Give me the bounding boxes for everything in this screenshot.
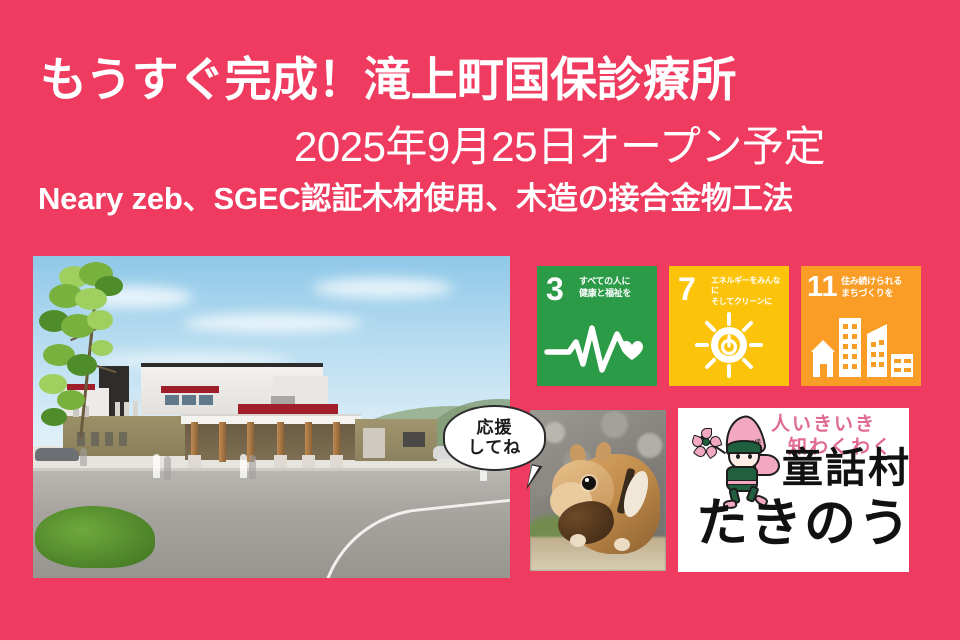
- heartbeat-icon: [537, 312, 657, 382]
- person-figure: [164, 456, 171, 480]
- chipmunk-eye: [582, 476, 596, 490]
- side-entrance-door: [363, 428, 385, 458]
- sun-power-icon: [669, 312, 789, 382]
- person-figure: [249, 455, 256, 479]
- city-buildings-icon: [801, 312, 921, 382]
- sdg-goal-3[interactable]: 3 すべての人に 健康と福祉を: [537, 266, 657, 386]
- person-figure: [153, 454, 160, 478]
- sdg-number: 11: [807, 273, 838, 302]
- window: [403, 432, 425, 447]
- sdg-goal-7[interactable]: 7 エネルギーをみんなに そしてクリーンに: [669, 266, 789, 386]
- building-rendering-image: [33, 256, 510, 578]
- sdg-goal-11[interactable]: 11 住み続けられる まちづくりを: [801, 266, 921, 386]
- page-title-line1: もうすぐ完成！滝上町国保診療所: [40, 56, 736, 103]
- car: [35, 448, 79, 461]
- window: [199, 395, 213, 405]
- chipmunk-paw: [614, 538, 630, 551]
- cloud: [183, 314, 363, 332]
- wood-column: [219, 422, 226, 462]
- sdg-caption-line2: そしてクリーンに: [711, 297, 787, 307]
- chipmunk-paw: [570, 534, 586, 547]
- shrub: [35, 506, 155, 568]
- town-mascot-logo: TAKINOUE 人いきいき 知わくわく 童話村 たきのうえ: [678, 408, 909, 572]
- mascot-eye: [748, 454, 752, 459]
- sdg-number: 3: [546, 273, 564, 305]
- sdg-caption: 住み続けられる まちづくりを: [841, 276, 917, 299]
- window: [182, 395, 196, 405]
- cherry-blossom-icon: [692, 428, 720, 456]
- sdg-goal-row: 3 すべての人に 健康と福祉を 7 エネルギーをみんなに そしてクリーンに: [537, 266, 921, 386]
- mascot-belt: [728, 480, 756, 485]
- tree: [39, 262, 149, 442]
- sdg-caption-line1: すべての人に: [579, 276, 655, 288]
- page-subtitle-line3: Neary zeb、SGEC認証木材使用、木造の接合金物工法: [38, 183, 793, 214]
- logo-main-kana: たきのうえ: [696, 498, 909, 550]
- chipmunk-photo: [530, 410, 666, 571]
- speech-bubble-line1: 応援: [477, 418, 513, 438]
- mascot-hair: [726, 440, 762, 454]
- speech-bubble-line2: してね: [468, 438, 522, 458]
- page-title-line2: 2025年9月25日オープン予定: [294, 126, 825, 168]
- sdg-caption: エネルギーをみんなに そしてクリーンに: [711, 276, 787, 307]
- logo-catchphrase-line1: 人いきいき: [771, 415, 876, 434]
- sdg-caption-line1: 住み続けられる: [841, 276, 917, 288]
- headline-block: もうすぐ完成！滝上町国保診療所 2025年9月25日オープン予定 Neary z…: [0, 0, 960, 230]
- sdg-caption-line2: まちづくりを: [841, 288, 917, 300]
- logo-main-kanji: 童話村: [782, 448, 909, 489]
- sdg-caption-line2: 健康と福祉を: [579, 288, 655, 300]
- red-roof-accent: [161, 386, 219, 393]
- mascot-eye: [736, 454, 740, 459]
- window: [165, 395, 179, 405]
- sdg-number: 7: [678, 273, 696, 305]
- cloud: [313, 278, 453, 298]
- person-figure: [80, 448, 87, 466]
- speech-bubble: 応援 してね: [443, 405, 546, 471]
- person-figure: [240, 454, 247, 478]
- sdg-caption-line1: エネルギーをみんなに: [711, 276, 787, 297]
- sdg-caption: すべての人に 健康と福祉を: [579, 276, 655, 299]
